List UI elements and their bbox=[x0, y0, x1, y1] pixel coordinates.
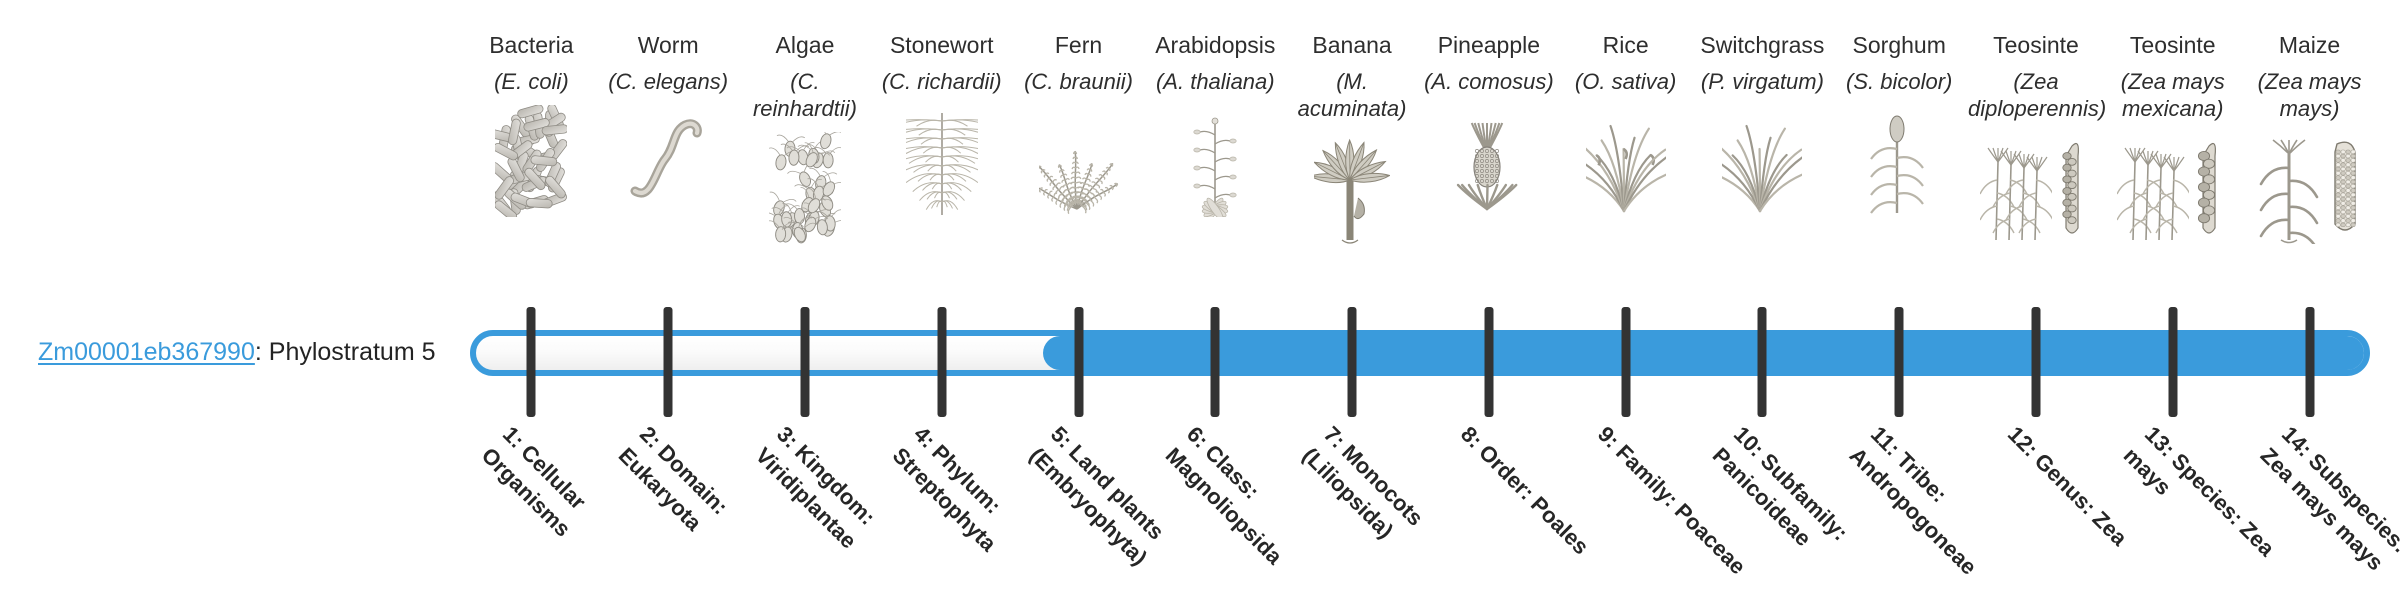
species-common-name: Algae bbox=[776, 30, 835, 60]
species-column: Switchgrass(P. virgatum) bbox=[1694, 30, 1831, 217]
rank-cell: 6: Class: Magnoliopsida bbox=[1147, 418, 1284, 580]
tick-cell bbox=[2104, 307, 2241, 417]
species-scientific-name: (E. coli) bbox=[494, 68, 569, 95]
species-column: Teosinte(Zea diploperennis) bbox=[1968, 30, 2105, 244]
species-column: Algae(C. reinhardtii) bbox=[737, 30, 874, 244]
teosinte-mexicana-illustration bbox=[2117, 126, 2229, 244]
tick-cell bbox=[1284, 307, 1421, 417]
phylostratum-tick bbox=[2305, 307, 2314, 417]
species-scientific-name: (O. sativa) bbox=[1575, 68, 1676, 95]
banana-illustration bbox=[1314, 126, 1390, 244]
species-common-name: Rice bbox=[1603, 30, 1649, 60]
species-column: Worm(C. elegans) bbox=[600, 30, 737, 217]
species-common-name: Switchgrass bbox=[1700, 30, 1824, 60]
species-scientific-name: (P. virgatum) bbox=[1701, 68, 1824, 95]
species-common-name: Bacteria bbox=[489, 30, 573, 60]
stonewort-illustration bbox=[906, 99, 978, 217]
species-column: Stonewort(C. richardii) bbox=[873, 30, 1010, 217]
pineapple-illustration bbox=[1451, 99, 1527, 217]
rank-cell: 10: Subfamily: Panicoideae bbox=[1694, 418, 1831, 580]
fern-illustration bbox=[1039, 99, 1119, 217]
species-common-name: Teosinte bbox=[2130, 30, 2216, 60]
phylostratigraphy-figure: Zm00001eb367990: Phylostratum 5 Bacteria… bbox=[0, 0, 2400, 580]
rank-cell: 7: Monocots (Liliopsida) bbox=[1284, 418, 1421, 580]
species-scientific-name: (C. braunii) bbox=[1024, 68, 1133, 95]
teosinte-diploperennis-illustration bbox=[1980, 126, 2092, 244]
species-common-name: Teosinte bbox=[1993, 30, 2079, 60]
rank-cell: 5: Land plants (Embryophyta) bbox=[1010, 418, 1147, 580]
species-scientific-name: (Zea mays mexicana) bbox=[2105, 68, 2241, 122]
phylostratum-tick bbox=[1484, 307, 1493, 417]
species-column: Teosinte(Zea mays mexicana) bbox=[2104, 30, 2241, 244]
switchgrass-illustration bbox=[1722, 99, 1802, 217]
phylostratum-tick-row bbox=[463, 307, 2378, 417]
tick-cell bbox=[463, 307, 600, 417]
species-scientific-name: (C. reinhardtii) bbox=[737, 68, 873, 122]
rice-illustration bbox=[1586, 99, 1666, 217]
species-column: Arabidopsis(A. thaliana) bbox=[1147, 30, 1284, 217]
tick-cell bbox=[737, 307, 874, 417]
species-column: Sorghum(S. bicolor) bbox=[1831, 30, 1968, 217]
species-column: Rice(O. sativa) bbox=[1557, 30, 1694, 217]
tick-cell bbox=[1968, 307, 2105, 417]
species-common-name: Stonewort bbox=[890, 30, 994, 60]
species-common-name: Pineapple bbox=[1438, 30, 1540, 60]
species-common-name: Sorghum bbox=[1853, 30, 1946, 60]
phylostratum-tick bbox=[1895, 307, 1904, 417]
phylostratum-tick bbox=[2031, 307, 2040, 417]
rank-cell: 12: Genus: Zea bbox=[1968, 418, 2105, 580]
rank-cell: 3: Kingdom: Viridiplantae bbox=[737, 418, 874, 580]
tick-cell bbox=[1010, 307, 1147, 417]
phylostratum-tick bbox=[1758, 307, 1767, 417]
species-scientific-name: (C. richardii) bbox=[882, 68, 1002, 95]
species-column: Pineapple(A. comosus) bbox=[1420, 30, 1557, 217]
rank-cell: 13: Species: Zea mays bbox=[2104, 418, 2241, 580]
rank-cell: 11: Tribe: Andropogoneae bbox=[1831, 418, 1968, 580]
phylostratum-tick bbox=[1074, 307, 1083, 417]
phylostratum-tick bbox=[937, 307, 946, 417]
tick-cell bbox=[1420, 307, 1557, 417]
rank-cell: 4: Phylum: Streptophyta bbox=[873, 418, 1010, 580]
tick-cell bbox=[873, 307, 1010, 417]
tick-cell bbox=[1147, 307, 1284, 417]
rank-cell: 9: Family: Poaceae bbox=[1557, 418, 1694, 580]
phylostratum-tick bbox=[1621, 307, 1630, 417]
tick-cell bbox=[1831, 307, 1968, 417]
species-common-name: Banana bbox=[1312, 30, 1391, 60]
species-scientific-name: (A. thaliana) bbox=[1156, 68, 1275, 95]
rank-cell: 8: Order: Poales bbox=[1420, 418, 1557, 580]
species-column: Fern(C. braunii) bbox=[1010, 30, 1147, 217]
phylostratum-text: Phylostratum 5 bbox=[269, 338, 436, 366]
arabidopsis-illustration bbox=[1179, 99, 1251, 217]
species-column: Maize(Zea mays mays) bbox=[2241, 30, 2378, 244]
species-common-name: Maize bbox=[2279, 30, 2340, 60]
rank-cell: 14: Subspecies: Zea mays mays bbox=[2241, 418, 2378, 580]
species-common-name: Fern bbox=[1055, 30, 1102, 60]
phylostratum-tick bbox=[664, 307, 673, 417]
species-scientific-name: (Zea diploperennis) bbox=[1968, 68, 2104, 122]
tick-cell bbox=[2241, 307, 2378, 417]
species-common-name: Worm bbox=[638, 30, 699, 60]
rank-cell: 2: Domain: Eukaryota bbox=[600, 418, 737, 580]
nematode-illustration bbox=[625, 99, 711, 217]
species-scientific-name: (M. acuminata) bbox=[1284, 68, 1420, 122]
species-header-row: Bacteria(E. coli)Worm(C. elegans)Algae(C… bbox=[463, 30, 2378, 315]
maize-illustration bbox=[2253, 126, 2367, 244]
algae-illustration bbox=[769, 126, 841, 244]
gene-id-link[interactable]: Zm00001eb367990 bbox=[38, 338, 255, 366]
caption-separator: : bbox=[255, 338, 269, 366]
species-column: Bacteria(E. coli) bbox=[463, 30, 600, 217]
tick-cell bbox=[600, 307, 737, 417]
species-common-name: Arabidopsis bbox=[1155, 30, 1275, 60]
phylostratum-tick bbox=[1348, 307, 1357, 417]
gene-phylostratum-caption: Zm00001eb367990: Phylostratum 5 bbox=[38, 336, 436, 368]
phylostratum-tick bbox=[527, 307, 536, 417]
species-column: Banana(M. acuminata) bbox=[1284, 30, 1421, 244]
species-scientific-name: (S. bicolor) bbox=[1846, 68, 1952, 95]
species-scientific-name: (C. elegans) bbox=[608, 68, 728, 95]
bacteria-illustration bbox=[495, 99, 567, 217]
phylostratum-tick bbox=[1211, 307, 1220, 417]
sorghum-illustration bbox=[1859, 99, 1939, 217]
rank-cell: 1: Cellular Organisms bbox=[463, 418, 600, 580]
species-scientific-name: (Zea mays mays) bbox=[2242, 68, 2378, 122]
phylostratum-tick bbox=[800, 307, 809, 417]
tick-cell bbox=[1694, 307, 1831, 417]
species-scientific-name: (A. comosus) bbox=[1424, 68, 1554, 95]
tick-cell bbox=[1557, 307, 1694, 417]
phylostratum-tick bbox=[2168, 307, 2177, 417]
taxonomic-rank-row: 1: Cellular Organisms2: Domain: Eukaryot… bbox=[463, 418, 2378, 580]
